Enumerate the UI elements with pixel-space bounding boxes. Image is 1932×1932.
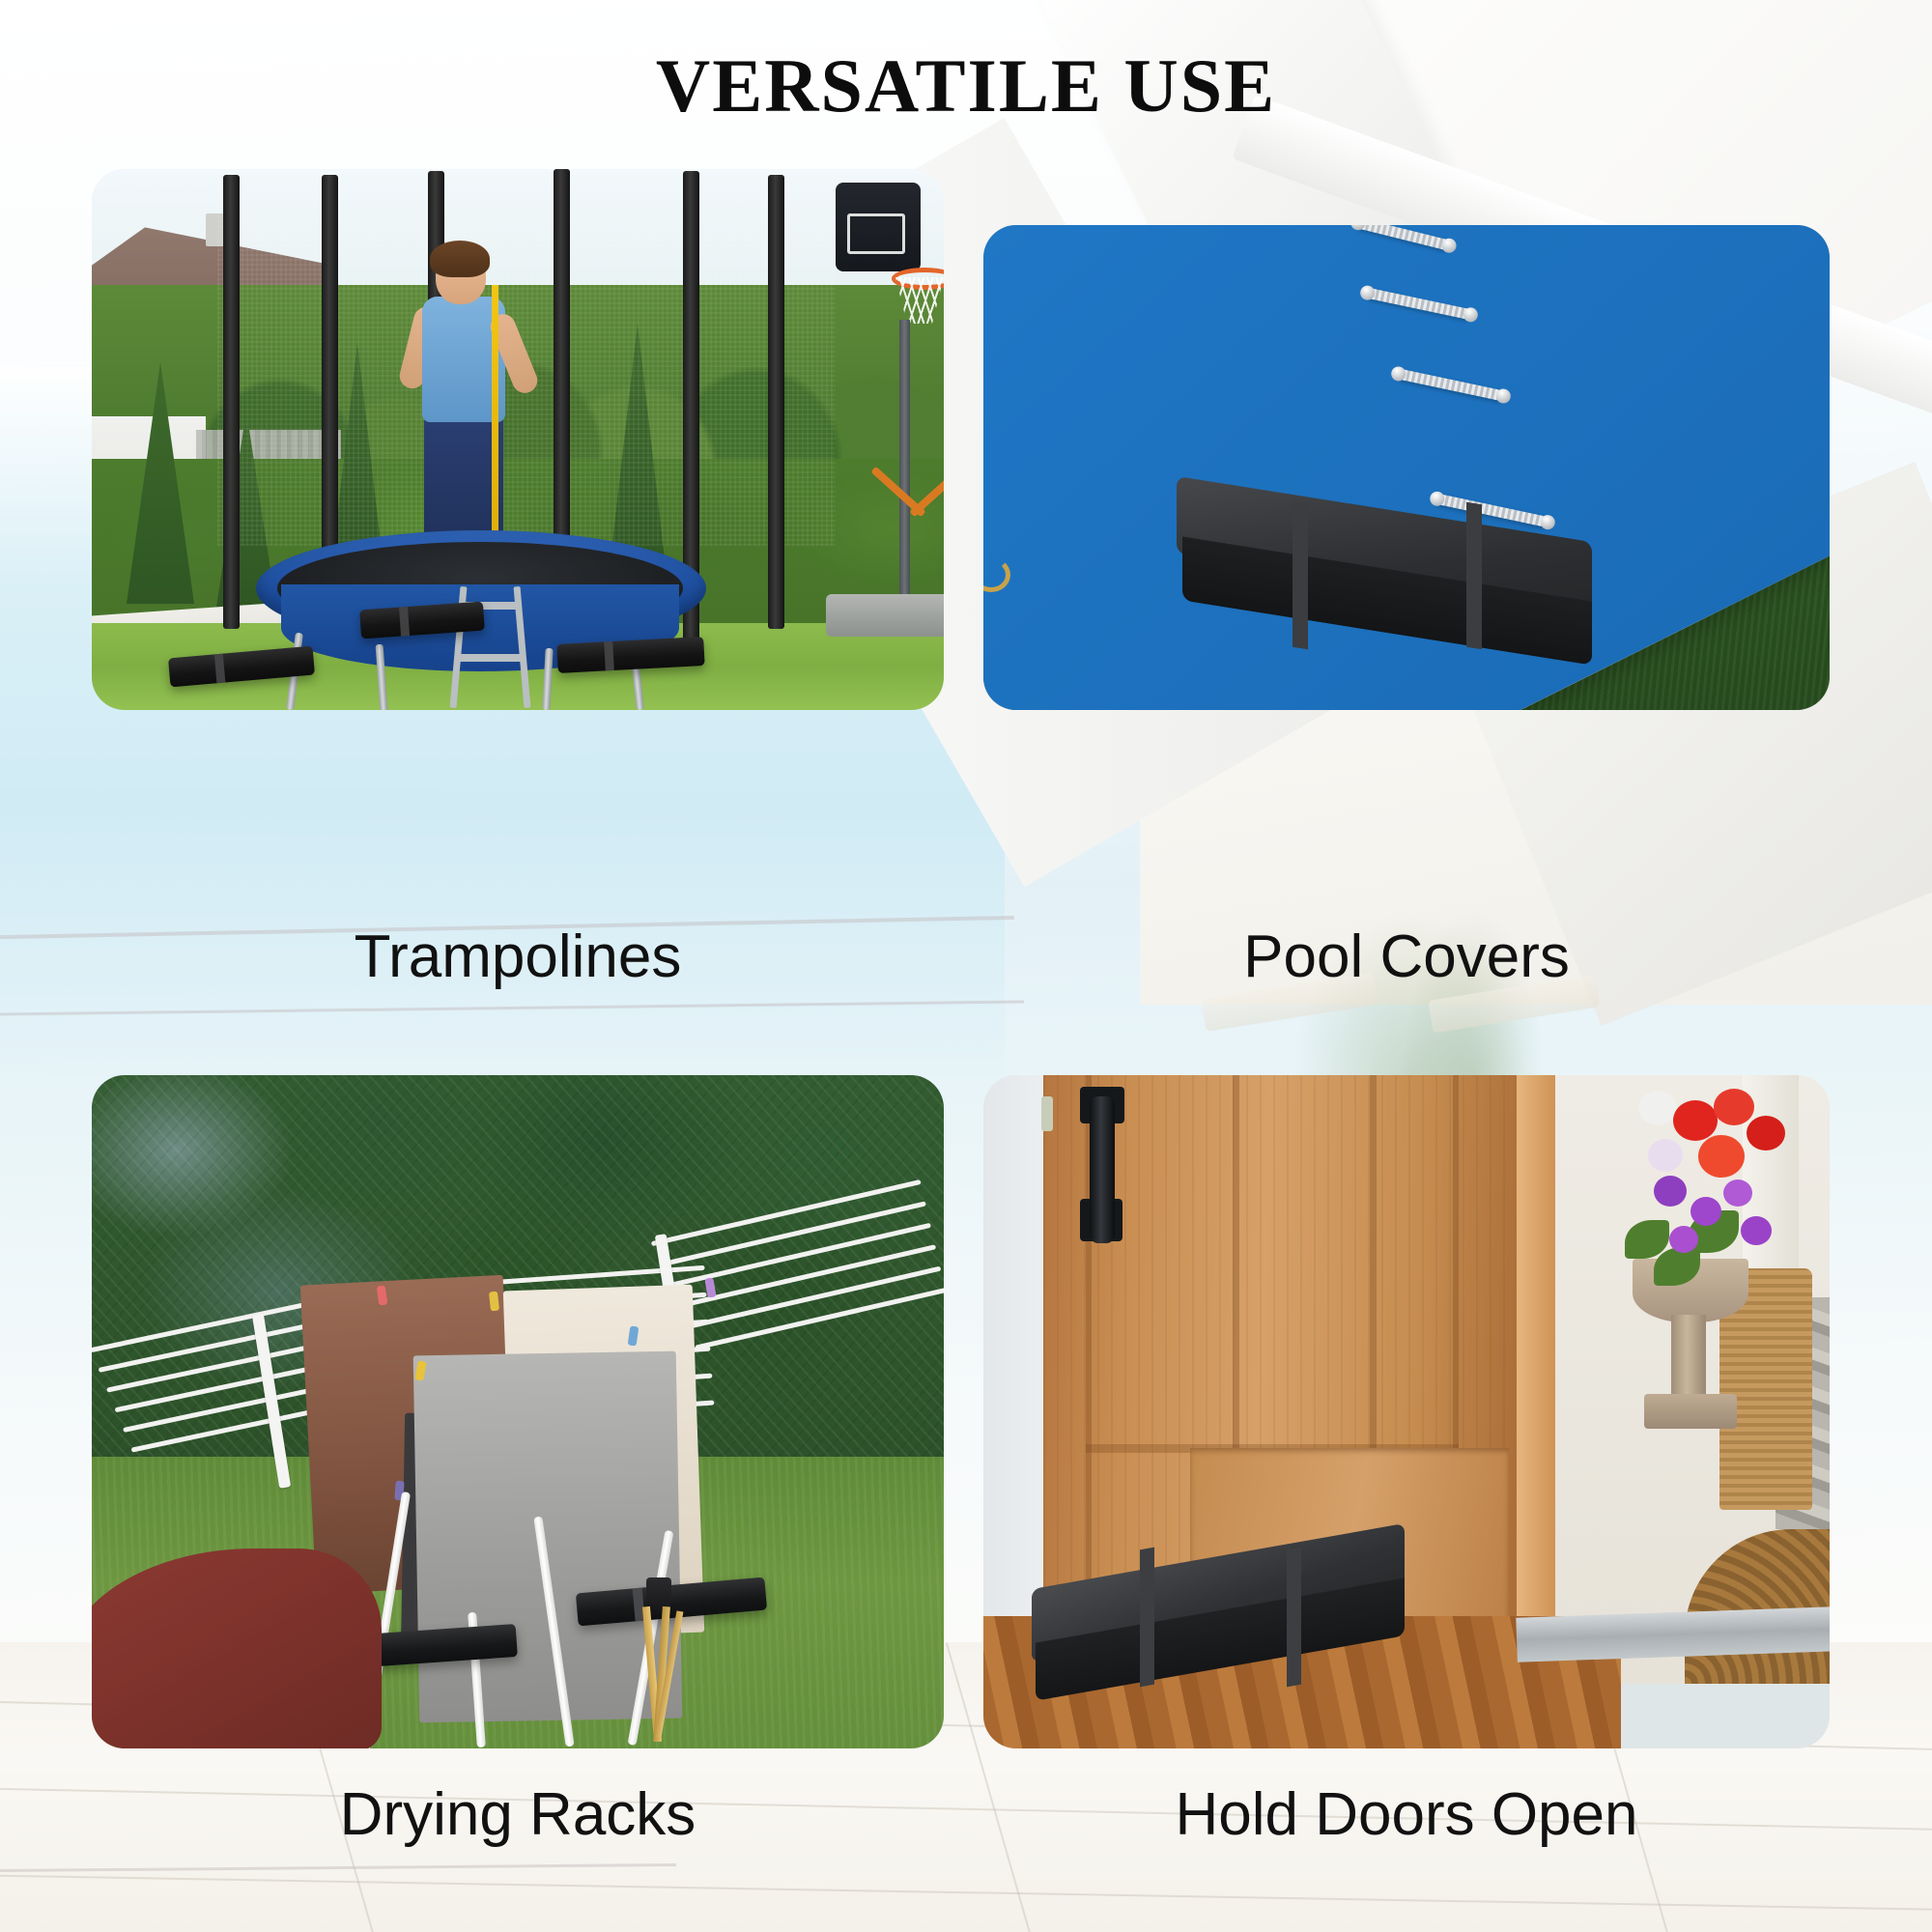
infographic-canvas: VERSATILE USE [0,0,1932,1932]
door-handle [1090,1096,1115,1243]
clothespin [489,1292,499,1312]
panel-drying-racks-image [92,1075,944,1748]
panel-pool-covers-image [983,225,1830,710]
weight-bag [1177,509,1631,673]
outdoor-view [1553,1075,1830,1684]
flower-red [1673,1100,1718,1141]
basketball-pole [899,320,910,610]
flower-white [1648,1139,1683,1172]
caption-trampolines: Trampolines [92,923,944,991]
child-hair [430,241,490,277]
basketball-backboard [836,183,921,271]
flower-purple [1690,1197,1721,1226]
panel-trampolines-image [92,169,944,710]
page-title: VERSATILE USE [0,43,1932,129]
planter-urn-stem [1671,1315,1706,1402]
patio-chair [92,1548,382,1748]
caption-hold-doors-open: Hold Doors Open [983,1780,1830,1849]
enclosure-pole [768,175,784,629]
flower-orange [1698,1135,1745,1178]
weight-bag [1032,1556,1437,1701]
flower-red [1747,1116,1785,1151]
door-hinge [1041,1096,1053,1131]
bamboo-torch [642,1577,675,1742]
planter-urn-base [1644,1394,1737,1429]
enclosure-pole [223,175,240,629]
flower-red [1714,1089,1754,1125]
flower-purple [1669,1226,1698,1253]
door-jamb [1517,1075,1555,1684]
panel-hold-doors-open-image [983,1075,1830,1748]
caption-pool-covers: Pool Covers [983,923,1830,991]
flower-purple [1741,1216,1772,1245]
caption-drying-racks: Drying Racks [92,1780,944,1849]
basketball-base [826,594,944,637]
flower-white [1638,1091,1677,1125]
door-mat [1685,1529,1830,1684]
flower-purple [1654,1176,1687,1207]
flower-purple [1723,1179,1752,1207]
